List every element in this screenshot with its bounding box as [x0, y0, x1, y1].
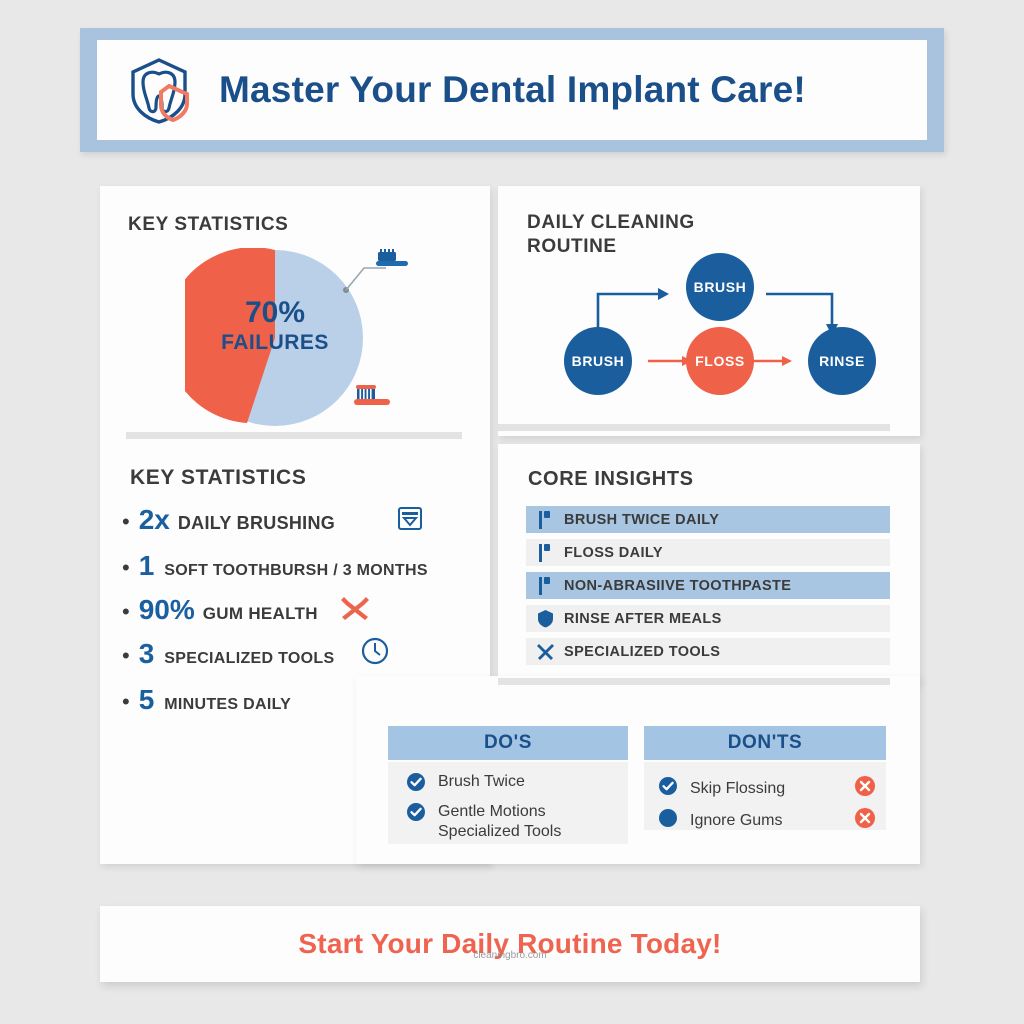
toothbrush-icon	[348, 382, 392, 417]
dos-header: DO'S	[388, 726, 628, 760]
routine-node-brush[interactable]: BRUSH	[564, 327, 632, 395]
toothbrush-icon	[370, 248, 410, 279]
insight-row[interactable]: NON-ABRASIIVE TOOTHPASTE	[526, 572, 890, 599]
key-statistics-list-title: KEY STATISTICS	[130, 466, 306, 490]
stat-number: 90%	[139, 594, 195, 626]
infographic-stage: Master Your Dental Implant Care! KEY STA…	[0, 0, 1024, 1024]
routine-node-label: BRUSH	[694, 279, 747, 295]
stat-number: 1	[139, 550, 155, 582]
x-circle-icon	[854, 775, 876, 802]
check-circle-icon	[658, 776, 678, 801]
failures-pie-chart	[185, 248, 365, 428]
stat-row: • 3 SPECIALIZED TOOLS	[122, 638, 334, 670]
core-insights-title: CORE INSIGHTS	[528, 468, 694, 491]
donts-item-label: Ignore Gums	[690, 811, 854, 831]
insight-label: BRUSH TWICE DAILY	[564, 512, 719, 528]
bullet-icon: •	[122, 691, 130, 713]
divider-left	[126, 432, 462, 439]
donts-item[interactable]: Ignore Gums	[658, 807, 876, 834]
routine-node-label: BRUSH	[572, 353, 625, 369]
dos-item-label: Gentle Motions Specialized Tools	[438, 802, 561, 842]
bullet-icon: •	[122, 645, 130, 667]
dos-item[interactable]: Gentle Motions Specialized Tools	[406, 802, 561, 842]
check-circle-icon	[406, 802, 426, 827]
stat-text: GUM HEALTH	[203, 604, 318, 624]
watermark: cleaningbro.com	[100, 950, 920, 961]
stat-row: • 2x DAILY BRUSHING	[122, 504, 335, 536]
routine-node-rinse[interactable]: RINSE	[808, 327, 876, 395]
shield-icon	[532, 609, 558, 628]
calendar-icon	[396, 504, 424, 537]
donts-header: DON'TS	[644, 726, 886, 760]
routine-node-floss[interactable]: FLOSS	[686, 327, 754, 395]
stat-text: MINUTES DAILY	[164, 696, 291, 714]
dos-item-label: Brush Twice	[438, 772, 525, 792]
divider-insights	[498, 678, 890, 685]
tools-icon	[338, 592, 372, 629]
routine-title-line1: DAILY CLEANING	[527, 212, 695, 234]
bullet-icon: •	[122, 511, 130, 533]
bullet-icon: •	[122, 601, 130, 623]
page-title: Master Your Dental Implant Care!	[219, 69, 806, 111]
filled-circle-icon	[658, 808, 678, 833]
routine-node-label: RINSE	[819, 353, 865, 369]
insight-row[interactable]: FLOSS DAILY	[526, 539, 890, 566]
stat-number: 3	[139, 638, 155, 670]
tooth-shield-icon	[121, 52, 197, 128]
donts-item[interactable]: Skip Flossing	[658, 775, 876, 802]
toothbrush-icon	[532, 577, 558, 595]
footer-banner: Start Your Daily Routine Today! cleaning…	[100, 906, 920, 982]
x-circle-icon	[854, 807, 876, 834]
insight-label: RINSE AFTER MEALS	[564, 611, 722, 627]
header-inner: Master Your Dental Implant Care!	[97, 40, 927, 140]
stat-row: • 5 MINUTES DAILY	[122, 684, 291, 716]
bullet-icon: •	[122, 557, 130, 579]
stat-number: 2x	[139, 504, 170, 536]
stat-text: DAILY BRUSHING	[178, 513, 335, 534]
insight-row[interactable]: RINSE AFTER MEALS	[526, 605, 890, 632]
stat-number: 5	[139, 684, 155, 716]
stat-text: SPECIALIZED TOOLS	[164, 650, 334, 668]
key-statistics-chart-title: KEY STATISTICS	[128, 214, 288, 236]
divider-routine	[498, 424, 890, 431]
insight-label: SPECIALIZED TOOLS	[564, 644, 720, 660]
insight-row[interactable]: BRUSH TWICE DAILY	[526, 506, 890, 533]
donts-item-label: Skip Flossing	[690, 779, 854, 799]
stat-text: SOFT TOOTHBURSH / 3 MONTHS	[164, 562, 428, 580]
check-circle-icon	[406, 772, 426, 797]
clock-icon	[360, 636, 390, 671]
dos-item[interactable]: Brush Twice	[406, 772, 525, 797]
insight-row[interactable]: SPECIALIZED TOOLS	[526, 638, 890, 665]
tools-icon	[532, 642, 558, 661]
header-banner: Master Your Dental Implant Care!	[80, 28, 944, 152]
stat-row: • 1 SOFT TOOTHBURSH / 3 MONTHS	[122, 550, 428, 582]
toothbrush-icon	[532, 511, 558, 529]
stat-row: • 90% GUM HEALTH	[122, 594, 318, 626]
routine-node-brush-top[interactable]: BRUSH	[686, 253, 754, 321]
insight-label: FLOSS DAILY	[564, 545, 663, 561]
routine-node-label: FLOSS	[695, 353, 745, 369]
routine-title-line2: ROUTINE	[527, 236, 617, 258]
insight-label: NON-ABRASIIVE TOOTHPASTE	[564, 578, 791, 594]
toothbrush-icon	[532, 544, 558, 562]
